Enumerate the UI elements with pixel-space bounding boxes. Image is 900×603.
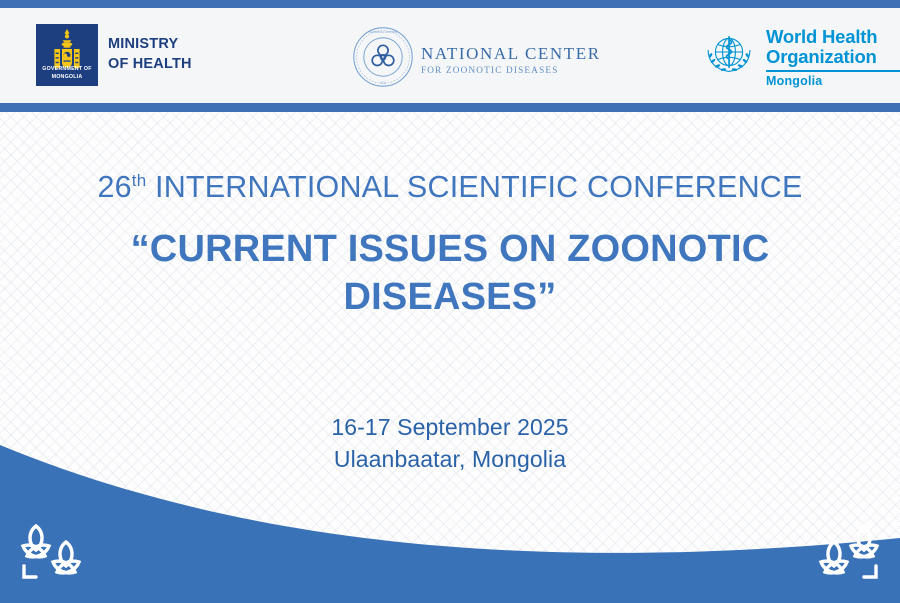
ministry-of-health-wordmark: MINISTRY OF HEALTH — [108, 35, 192, 74]
who-emblem-icon — [700, 26, 758, 89]
ministry-of-health-logo: GOVERNMENT OF MONGOLIA MINISTRY OF HEALT… — [36, 24, 192, 86]
conference-theme-line-2: DISEASES” — [0, 274, 900, 322]
who-line-1: World Health — [766, 27, 900, 47]
ministry-of-health-line-1: MINISTRY — [108, 35, 192, 55]
mongolia-state-emblem-icon: GOVERNMENT OF MONGOLIA — [36, 24, 98, 86]
national-center-logo: NATIONAL CENTER 1931 NATIONAL CENTER FOR… — [352, 26, 601, 93]
national-center-seal-icon: NATIONAL CENTER 1931 — [352, 26, 414, 93]
conference-theme-line-1: “CURRENT ISSUES ON ZOONOTIC — [0, 226, 900, 274]
conference-ordinal-suffix: th — [132, 171, 147, 190]
header-divider-bar — [0, 103, 900, 112]
mongolian-knot-ornament-left-icon — [14, 520, 92, 589]
who-logo: World Health Organization Mongolia — [700, 26, 900, 89]
logo-row: GOVERNMENT OF MONGOLIA MINISTRY OF HEALT… — [0, 8, 900, 103]
emblem-caption-line-1: GOVERNMENT OF — [42, 66, 91, 72]
who-country-label: Mongolia — [766, 74, 900, 88]
conference-heading: 26th INTERNATIONAL SCIENTIFIC CONFERENCE — [0, 168, 900, 206]
who-divider-rule — [766, 70, 900, 72]
conference-number: 26 — [97, 170, 131, 204]
top-accent-bar — [0, 0, 900, 8]
svg-text:1931: 1931 — [380, 81, 387, 85]
title-block: 26th INTERNATIONAL SCIENTIFIC CONFERENCE… — [0, 168, 900, 321]
footer-wave-decoration — [0, 420, 900, 603]
conference-title-slide: GOVERNMENT OF MONGOLIA MINISTRY OF HEALT… — [0, 0, 900, 603]
who-line-2: Organization — [766, 47, 900, 67]
svg-text:NATIONAL CENTER: NATIONAL CENTER — [369, 30, 398, 34]
conference-heading-rest: INTERNATIONAL SCIENTIFIC CONFERENCE — [146, 170, 802, 204]
national-center-line-2: FOR ZOONOTIC DISEASES — [421, 65, 601, 75]
mongolian-knot-ornament-right-icon — [808, 520, 886, 589]
national-center-line-1: NATIONAL CENTER — [421, 44, 601, 64]
emblem-caption-line-2: MONGOLIA — [52, 74, 83, 80]
conference-theme: “CURRENT ISSUES ON ZOONOTIC DISEASES” — [0, 226, 900, 321]
ministry-of-health-line-2: OF HEALTH — [108, 55, 192, 75]
who-wordmark: World Health Organization Mongolia — [766, 27, 900, 88]
national-center-wordmark: NATIONAL CENTER FOR ZOONOTIC DISEASES — [421, 44, 601, 75]
emblem-caption: GOVERNMENT OF MONGOLIA — [36, 66, 98, 82]
